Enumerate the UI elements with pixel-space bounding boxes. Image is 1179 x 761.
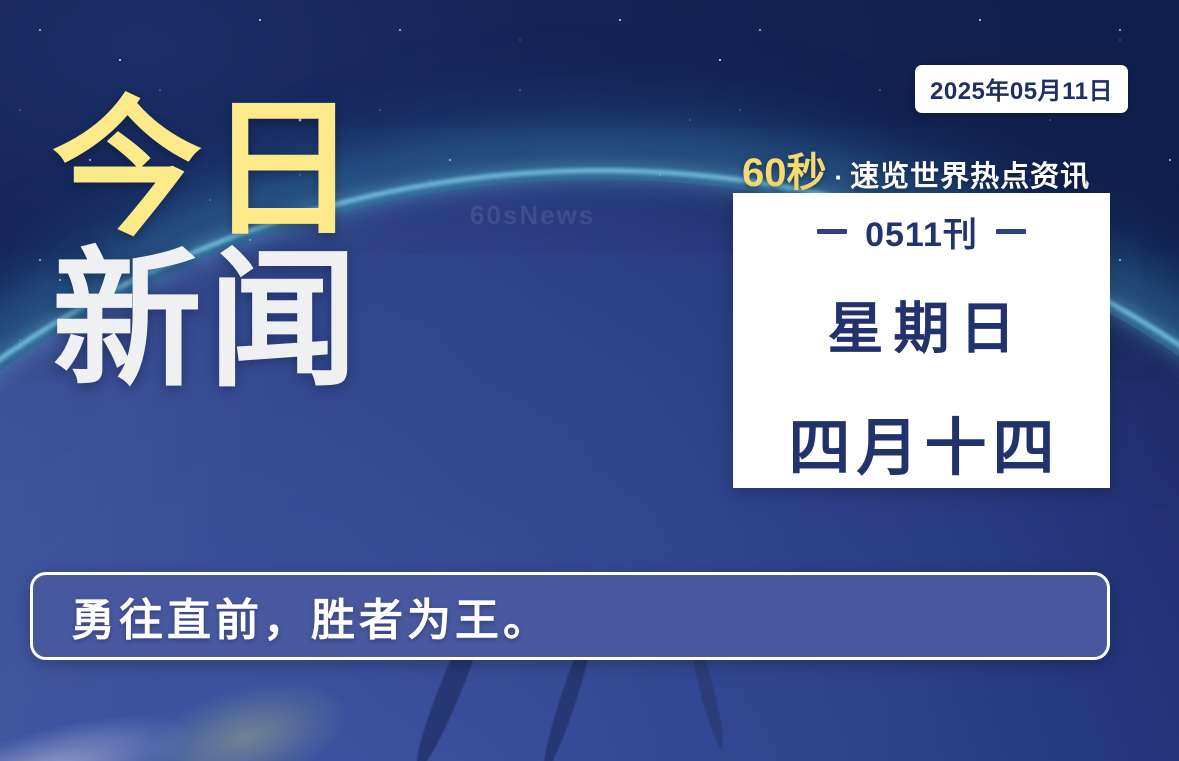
page-title: 今日 新闻 bbox=[52, 96, 364, 394]
info-card: 0511刊 星期日 四月十四 bbox=[733, 193, 1110, 488]
title-line-news: 新闻 bbox=[52, 247, 364, 394]
issue-row: 0511刊 bbox=[817, 207, 1026, 256]
lunar-date-label: 四月十四 bbox=[782, 397, 1060, 487]
issue-dash-left-icon bbox=[817, 229, 847, 234]
date-badge: 2025年05月11日 bbox=[915, 65, 1128, 113]
news-poster: 60sNews 今日 新闻 2025年05月11日 60秒 · 速览世界热点资讯… bbox=[0, 0, 1179, 761]
weekday-label: 星期日 bbox=[818, 284, 1026, 365]
tagline-separator: · bbox=[835, 162, 844, 193]
quote-bar: 勇往直前，胜者为王。 bbox=[30, 572, 1110, 660]
quote-text: 勇往直前，胜者为王。 bbox=[33, 584, 551, 648]
tagline: 60秒 · 速览世界热点资讯 bbox=[742, 140, 1090, 198]
issue-dash-right-icon bbox=[996, 229, 1026, 234]
tagline-rest: 速览世界热点资讯 bbox=[850, 153, 1090, 195]
watermark-text: 60sNews bbox=[470, 200, 595, 231]
tagline-highlight: 60秒 bbox=[742, 140, 827, 198]
issue-number: 0511刊 bbox=[865, 207, 978, 256]
title-line-today: 今日 bbox=[52, 96, 364, 243]
